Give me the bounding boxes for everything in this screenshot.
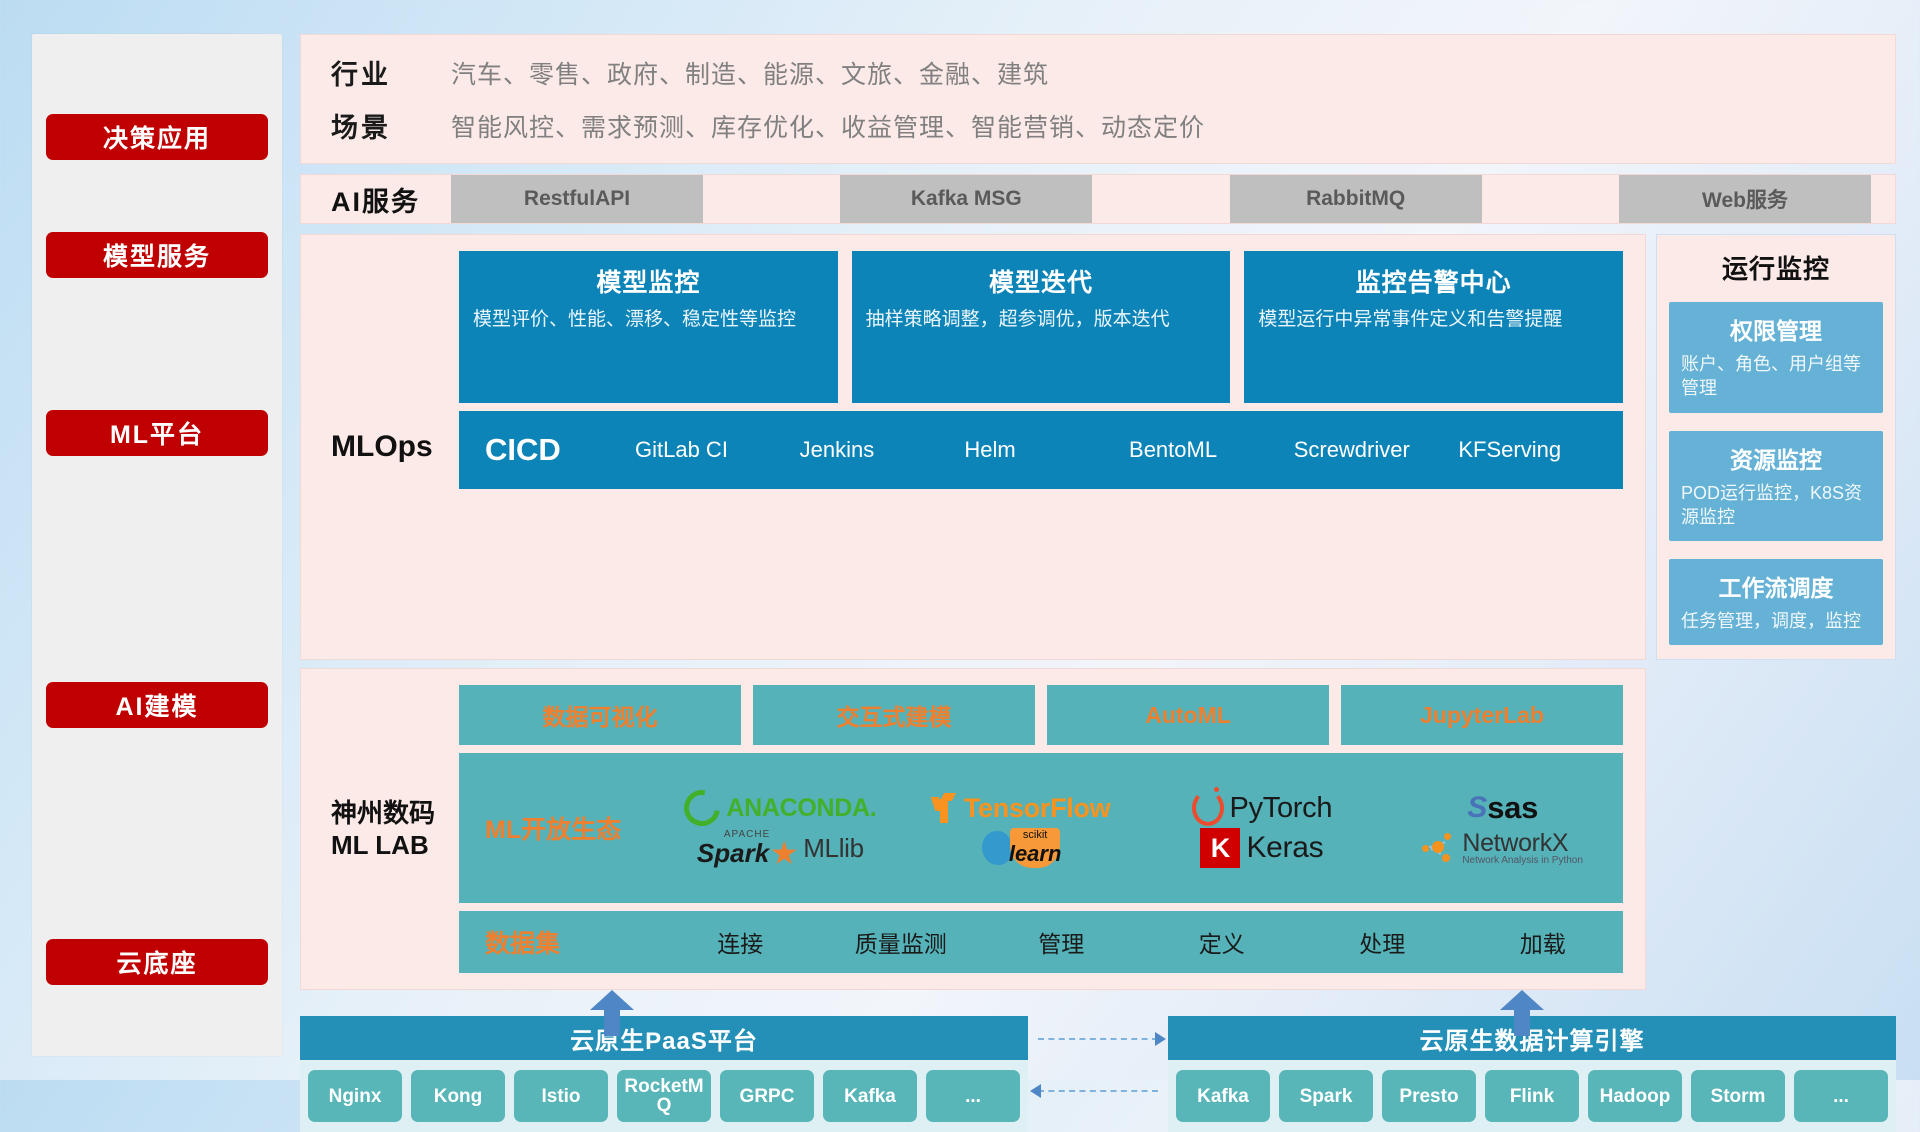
mlops-and-monitor-row: MLOps 模型监控 模型评价、性能、漂移、稳定性等监控 模型迭代 抽样策略调整… xyxy=(300,234,1896,660)
service-box-web[interactable]: Web服务 xyxy=(1619,175,1871,223)
monitor-card-resource[interactable]: 资源监控 POD运行监控，K8S资源监控 xyxy=(1669,431,1883,542)
scikit-logo-text: learn xyxy=(1009,841,1062,867)
tab-jupyterlab[interactable]: JupyterLab xyxy=(1341,685,1623,745)
connector-arrow-right-icon xyxy=(1155,1032,1166,1046)
paas-chip-grpc[interactable]: GRPC xyxy=(720,1070,814,1122)
ai-service-band: AI服务 RestfulAPI Kafka MSG RabbitMQ Web服务 xyxy=(300,174,1896,224)
sas-logo: S sas xyxy=(1467,790,1538,826)
service-box-restfulapi[interactable]: RestfulAPI xyxy=(451,175,703,223)
anaconda-logo: ANACONDA. xyxy=(684,790,876,826)
scikit-logo-sub: scikit xyxy=(1023,829,1047,841)
monitor-card-permission[interactable]: 权限管理 账户、角色、用户组等管理 xyxy=(1669,302,1883,413)
card-desc: 任务管理，调度，监控 xyxy=(1681,609,1871,633)
ml-lab-label: 神州数码 ML LAB xyxy=(331,685,459,973)
mlops-card-list: 模型监控 模型评价、性能、漂移、稳定性等监控 模型迭代 抽样策略调整，超参调优，… xyxy=(459,251,1623,403)
ml-lab-band: 神州数码 ML LAB 数据可视化 交互式建模 AutoML JupyterLa… xyxy=(300,668,1646,990)
runtime-monitor-panel: 运行监控 权限管理 账户、角色、用户组等管理 资源监控 POD运行监控，K8S资… xyxy=(1656,234,1896,660)
networkx-logo: NetworkX Network Analysis in Python xyxy=(1422,830,1583,867)
tensorflow-mark-icon xyxy=(932,793,958,823)
dataset-items: 连接 质量监测 管理 定义 处理 加载 xyxy=(660,925,1623,959)
paas-platform-block: 云原生PaaS平台 Nginx Kong Istio RocketMQ GRPC… xyxy=(300,1016,1028,1132)
card-desc: 账户、角色、用户组等管理 xyxy=(1681,352,1871,401)
paas-chip-more[interactable]: ... xyxy=(926,1070,1020,1122)
networkx-graph-icon xyxy=(1422,833,1456,863)
ml-lab-label-line2: ML LAB xyxy=(331,829,459,862)
sidebar-item-label: AI建模 xyxy=(115,687,198,723)
mlops-label: MLOps xyxy=(331,251,459,643)
card-title: 监控告警中心 xyxy=(1258,263,1609,299)
connector-dashed-top xyxy=(1038,1038,1158,1040)
keras-mark-icon: K xyxy=(1200,828,1240,868)
cicd-label: CICD xyxy=(485,432,635,468)
pytorch-flame-icon xyxy=(1192,790,1224,826)
industry-label: 行业 xyxy=(331,53,451,92)
mlops-band: MLOps 模型监控 模型评价、性能、漂移、稳定性等监控 模型迭代 抽样策略调整… xyxy=(300,234,1646,660)
ml-ecosystem-label: ML开放生态 xyxy=(485,810,660,846)
card-title: 模型监控 xyxy=(473,263,824,299)
card-title: 权限管理 xyxy=(1681,312,1871,346)
ai-service-boxes: RestfulAPI Kafka MSG RabbitMQ Web服务 xyxy=(451,175,1895,223)
ml-lab-label-line1: 神州数码 xyxy=(331,797,459,830)
ml-lab-content: 数据可视化 交互式建模 AutoML JupyterLab ML开放生态 ANA… xyxy=(459,685,1623,973)
ml-ecosystem-logos: ANACONDA. TensorFlow xyxy=(660,788,1623,868)
connector-arrow-left-icon xyxy=(1030,1084,1041,1098)
tab-automl[interactable]: AutoML xyxy=(1047,685,1329,745)
networkx-logo-text: NetworkX xyxy=(1462,830,1583,856)
ai-service-label: AI服务 xyxy=(331,180,451,219)
dataset-item-manage[interactable]: 管理 xyxy=(981,925,1142,959)
keras-logo-text: Keras xyxy=(1246,831,1323,865)
connector-dashed-bottom xyxy=(1038,1090,1158,1092)
scikit-badge-icon: scikit learn xyxy=(1010,828,1060,868)
paas-chip-list: Nginx Kong Istio RocketMQ GRPC Kafka ... xyxy=(300,1060,1028,1132)
paas-platform-title: 云原生PaaS平台 xyxy=(300,1016,1028,1060)
sidebar-item-label: 决策应用 xyxy=(103,119,211,155)
compute-chip-more[interactable]: ... xyxy=(1794,1070,1888,1122)
pytorch-logo-text: PyTorch xyxy=(1230,792,1333,825)
compute-chip-presto[interactable]: Presto xyxy=(1382,1070,1476,1122)
spark-mllib-logo: APACHE Spark MLlib xyxy=(697,830,864,866)
dataset-item-define[interactable]: 定义 xyxy=(1142,925,1303,959)
tab-interactive-modeling[interactable]: 交互式建模 xyxy=(753,685,1035,745)
ml-lab-tabs: 数据可视化 交互式建模 AutoML JupyterLab xyxy=(459,685,1623,745)
spark-logo-text: Spark xyxy=(697,840,769,866)
dataset-row: 数据集 连接 质量监测 管理 定义 处理 加载 xyxy=(459,911,1623,973)
scikit-learn-logo: scikit learn xyxy=(982,828,1060,868)
anaconda-ring-icon xyxy=(677,783,727,833)
networkx-tagline: Network Analysis in Python xyxy=(1462,856,1583,867)
keras-logo: K Keras xyxy=(1200,828,1323,868)
sas-swirl-icon: S xyxy=(1467,791,1487,825)
ml-lab-right-spacer xyxy=(1656,660,1896,990)
cicd-items: GitLab CI Jenkins Helm BentoML Screwdriv… xyxy=(635,438,1623,461)
compute-chip-kafka[interactable]: Kafka xyxy=(1176,1070,1270,1122)
monitor-panel-title: 运行监控 xyxy=(1669,249,1883,286)
paas-chip-istio[interactable]: Istio xyxy=(514,1070,608,1122)
dataset-label: 数据集 xyxy=(485,924,660,960)
sidebar-item-model-service[interactable]: 模型服务 xyxy=(46,232,268,278)
scene-label: 场景 xyxy=(331,106,451,145)
sidebar-item-cloud-foundation[interactable]: 云底座 xyxy=(46,939,268,985)
sidebar-item-label: ML平台 xyxy=(110,415,204,451)
cicd-item-bentoml[interactable]: BentoML xyxy=(1129,438,1294,461)
dataset-item-process[interactable]: 处理 xyxy=(1302,925,1463,959)
cicd-row: CICD GitLab CI Jenkins Helm BentoML Scre… xyxy=(459,411,1623,489)
ml-ecosystem-row: ML开放生态 ANACONDA. xyxy=(459,753,1623,903)
paas-chip-rocketmq[interactable]: RocketMQ xyxy=(617,1070,711,1122)
service-box-rabbitmq[interactable]: RabbitMQ xyxy=(1230,175,1482,223)
sidebar-item-label: 云底座 xyxy=(116,944,197,980)
paas-chip-nginx[interactable]: Nginx xyxy=(308,1070,402,1122)
compute-chip-flink[interactable]: Flink xyxy=(1485,1070,1579,1122)
mlops-card-alert-center[interactable]: 监控告警中心 模型运行中异常事件定义和告警提醒 xyxy=(1244,251,1623,403)
card-desc: POD运行监控，K8S资源监控 xyxy=(1681,481,1871,530)
spark-star-icon xyxy=(771,840,797,866)
compute-chip-hadoop[interactable]: Hadoop xyxy=(1588,1070,1682,1122)
paas-chip-kong[interactable]: Kong xyxy=(411,1070,505,1122)
arrow-up-paas-icon xyxy=(590,990,634,1036)
card-title: 工作流调度 xyxy=(1681,569,1871,603)
mlops-card-model-iteration[interactable]: 模型迭代 抽样策略调整，超参调优，版本迭代 xyxy=(852,251,1231,403)
dataset-item-connect[interactable]: 连接 xyxy=(660,925,821,959)
architecture-diagram: 决策应用 模型服务 ML平台 AI建模 云底座 行业 汽车、零售、政府、制造、能… xyxy=(0,0,1920,1080)
sidebar-item-ai-modeling[interactable]: AI建模 xyxy=(46,682,268,728)
industry-scene-band: 行业 汽车、零售、政府、制造、能源、文旅、金融、建筑 场景 智能风控、需求预测、… xyxy=(300,34,1896,164)
tensorflow-logo: TensorFlow xyxy=(932,793,1111,824)
scene-value: 智能风控、需求预测、库存优化、收益管理、智能营销、动态定价 xyxy=(451,108,1205,144)
industry-value: 汽车、零售、政府、制造、能源、文旅、金融、建筑 xyxy=(451,55,1049,91)
card-title: 模型迭代 xyxy=(866,263,1217,299)
tensorflow-logo-text: TensorFlow xyxy=(964,793,1111,824)
anaconda-logo-text: ANACONDA. xyxy=(726,794,876,823)
paas-chip-kafka[interactable]: Kafka xyxy=(823,1070,917,1122)
scikit-blob-icon xyxy=(982,831,1012,865)
compute-chip-list: Kafka Spark Presto Flink Hadoop Storm ..… xyxy=(1168,1060,1896,1132)
compute-chip-spark[interactable]: Spark xyxy=(1279,1070,1373,1122)
pytorch-logo: PyTorch xyxy=(1192,790,1333,826)
industry-row: 行业 汽车、零售、政府、制造、能源、文旅、金融、建筑 xyxy=(331,53,1895,92)
dataset-item-load[interactable]: 加载 xyxy=(1463,925,1624,959)
card-desc: 模型评价、性能、漂移、稳定性等监控 xyxy=(473,307,824,333)
sas-logo-text: sas xyxy=(1487,790,1538,826)
cicd-item-kfserving[interactable]: KFServing xyxy=(1458,438,1623,461)
card-title: 资源监控 xyxy=(1681,441,1871,475)
sidebar-item-ml-platform[interactable]: ML平台 xyxy=(46,410,268,456)
sidebar-item-label: 模型服务 xyxy=(103,237,211,273)
monitor-card-workflow[interactable]: 工作流调度 任务管理，调度，监控 xyxy=(1669,559,1883,645)
service-box-kafka-msg[interactable]: Kafka MSG xyxy=(840,175,1092,223)
sidebar-item-decision-app[interactable]: 决策应用 xyxy=(46,114,268,160)
cloud-foundation-row: 云原生PaaS平台 Nginx Kong Istio RocketMQ GRPC… xyxy=(300,1016,1896,1132)
cicd-item-jenkins[interactable]: Jenkins xyxy=(800,438,965,461)
mlops-content: 模型监控 模型评价、性能、漂移、稳定性等监控 模型迭代 抽样策略调整，超参调优，… xyxy=(459,251,1623,643)
tab-data-visualization[interactable]: 数据可视化 xyxy=(459,685,741,745)
dataset-item-quality[interactable]: 质量监测 xyxy=(821,925,982,959)
mlops-card-model-monitoring[interactable]: 模型监控 模型评价、性能、漂移、稳定性等监控 xyxy=(459,251,838,403)
card-desc: 抽样策略调整，超参调优，版本迭代 xyxy=(866,307,1217,333)
scene-row: 场景 智能风控、需求预测、库存优化、收益管理、智能营销、动态定价 xyxy=(331,106,1895,145)
cicd-item-screwdriver[interactable]: Screwdriver xyxy=(1294,438,1459,461)
main-column: 行业 汽车、零售、政府、制造、能源、文旅、金融、建筑 场景 智能风控、需求预测、… xyxy=(300,34,1896,1056)
cicd-item-gitlab-ci[interactable]: GitLab CI xyxy=(635,438,800,461)
cicd-item-helm[interactable]: Helm xyxy=(964,438,1129,461)
compute-chip-storm[interactable]: Storm xyxy=(1691,1070,1785,1122)
mllib-logo-text: MLlib xyxy=(803,833,864,864)
layer-rail: 决策应用 模型服务 ML平台 AI建模 云底座 xyxy=(32,34,282,1056)
card-desc: 模型运行中异常事件定义和告警提醒 xyxy=(1258,307,1609,333)
arrow-up-compute-icon xyxy=(1500,990,1544,1036)
